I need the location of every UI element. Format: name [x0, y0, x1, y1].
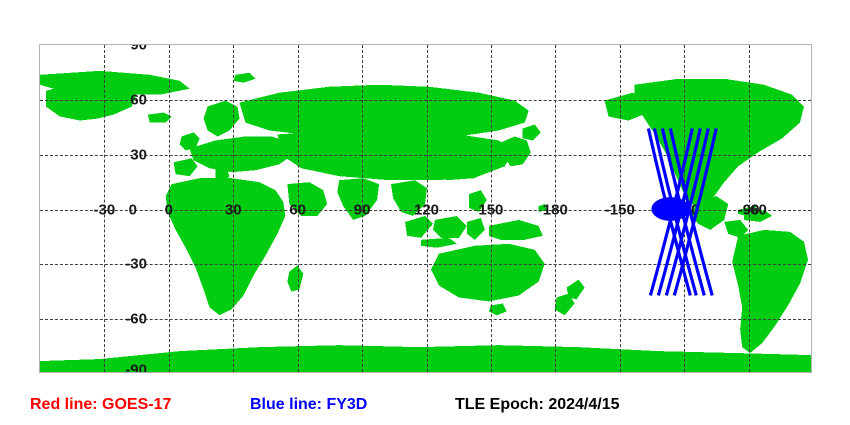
land-iberia [174, 158, 198, 176]
land-java [421, 238, 457, 248]
land-philippines [469, 190, 487, 212]
land-indochina [391, 180, 427, 216]
land-africa [166, 178, 286, 315]
land-india [337, 178, 379, 220]
land-scandinavia [204, 101, 240, 137]
land-australia [431, 244, 545, 302]
legend-tle-epoch: TLE Epoch: 2024/4/15 [455, 397, 620, 413]
land-new-guinea [489, 220, 543, 240]
legend-red-line: Red line: GOES-17 [30, 397, 171, 413]
land-svalbard [233, 73, 255, 83]
land-north-america [634, 79, 804, 206]
land-sumatra [405, 216, 433, 238]
land-borneo [433, 216, 467, 238]
land-pacific-islands [539, 204, 547, 212]
world-map-plot: -30 0 30 60 90 120 150 180 -150 -120 -90… [39, 44, 812, 373]
legend-blue-line: Blue line: FY3D [250, 397, 367, 413]
land-japan-north [523, 125, 541, 141]
land-sulawesi [467, 218, 485, 240]
land-arabia [287, 182, 327, 216]
land-antarctica [40, 345, 811, 372]
land-south-america [732, 230, 808, 353]
ground-track-figure: -30 0 30 60 90 120 150 180 -150 -120 -90… [0, 0, 850, 425]
land-madagascar [287, 266, 303, 292]
land-russia-siberia [239, 85, 528, 139]
world-landmass-layer [40, 45, 811, 372]
land-europe-mainland [190, 136, 294, 172]
land-iceland [148, 113, 172, 123]
figure-legend: Red line: GOES-17 Blue line: FY3D TLE Ep… [0, 393, 850, 421]
land-tasmania [489, 303, 507, 315]
